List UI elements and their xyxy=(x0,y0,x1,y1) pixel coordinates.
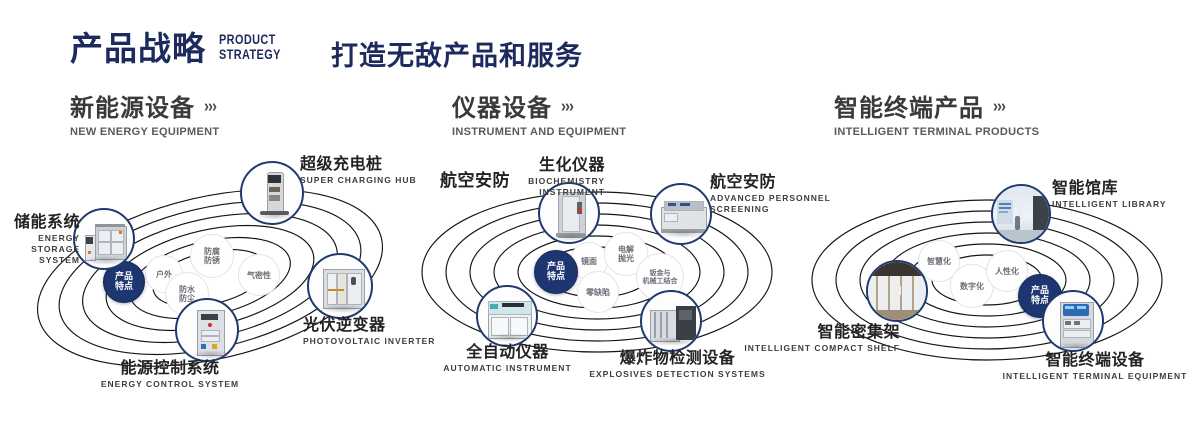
center-bubble-line1-1: 产品 xyxy=(115,272,133,282)
page-title-en: PRODUCT STRATEGY xyxy=(219,32,281,62)
product-node-intelligent-library[interactable] xyxy=(991,184,1051,244)
label-cn-energy-control: 能源控制系统 xyxy=(90,358,250,377)
center-bubble-line2-1: 特点 xyxy=(115,282,133,292)
label-automatic-instrument: 全自动仪器 AUTOMATIC INSTRUMENT xyxy=(425,342,590,374)
label-energy-storage: 储能系统 ENERGY STORAGE SYSTEM xyxy=(0,212,80,266)
section-title-cn-0: 新能源设备 xyxy=(70,94,195,122)
explosives-detector-icon xyxy=(642,292,700,350)
section-title-cn-1: 仪器设备 xyxy=(452,94,552,122)
label-cn-biochemistry: 生化仪器 xyxy=(435,155,605,174)
feature-line1-2-1: 镜面 xyxy=(581,257,597,266)
center-bubble-2: 产品 特点 xyxy=(534,250,578,294)
feature-line1-3-1: 智慧化 xyxy=(927,257,951,266)
feature-line1-2-2: 电解 xyxy=(618,245,634,254)
product-node-screening-machine[interactable] xyxy=(650,183,712,245)
page-slogan: 打造无敌产品和服务 xyxy=(331,34,583,73)
label-cn-terminal-equipment: 智能终端设备 xyxy=(1000,350,1190,369)
page-title-en-line1: PRODUCT xyxy=(219,32,281,47)
product-node-compact-shelf[interactable] xyxy=(866,260,928,322)
label-cn-library: 智能馆库 xyxy=(1052,178,1192,197)
automatic-instrument-icon xyxy=(478,287,536,345)
center-bubble-line1-2: 产品 xyxy=(547,262,565,272)
label-en-explosives: EXPLOSIVES DETECTION SYSTEMS xyxy=(585,369,770,380)
label-cn-compact-shelf: 智能密集架 xyxy=(740,322,900,341)
section-heading-instrument: 仪器设备››› INSTRUMENT AND EQUIPMENT xyxy=(452,94,626,138)
feature-line1-3-3: 人性化 xyxy=(995,267,1019,276)
page-title-en-line2: STRATEGY xyxy=(219,47,281,62)
section-title-en-0: NEW ENERGY EQUIPMENT xyxy=(70,126,219,138)
label-biochemistry-instrument: 生化仪器 BIOCHEMISTRY INSTRUMENT xyxy=(435,155,605,198)
feature-line1-1-4: 气密性 xyxy=(247,271,271,280)
energy-storage-cabinet-icon xyxy=(75,210,133,268)
section-heading-intelligent: 智能终端产品››› INTELLIGENT TERMINAL PRODUCTS xyxy=(834,94,1039,138)
section-title-en-2: INTELLIGENT TERMINAL PRODUCTS xyxy=(834,126,1039,138)
page-title-cn: 产品战略 xyxy=(70,29,206,69)
feature-bubble-1-4: 气密性 xyxy=(238,254,280,296)
chevrons-right-icon: ››› xyxy=(993,96,1005,116)
library-room-photo-icon xyxy=(993,186,1049,242)
section-title-en-1: INSTRUMENT AND EQUIPMENT xyxy=(452,126,626,138)
feature-line2-1-2: 防锈 xyxy=(204,256,220,265)
label-en-biochemistry: BIOCHEMISTRY INSTRUMENT xyxy=(435,176,605,198)
feature-line2-2-2: 抛光 xyxy=(618,254,634,263)
label-energy-control: 能源控制系统 ENERGY CONTROL SYSTEM xyxy=(90,358,250,390)
product-node-automatic-instrument[interactable] xyxy=(476,285,538,347)
feature-line1-1-2: 防腐 xyxy=(204,247,220,256)
header: 产品战略 PRODUCT STRATEGY 打造无敌产品和服务 xyxy=(0,0,1200,86)
screening-machine-icon xyxy=(652,185,710,243)
chevrons-right-icon: ››› xyxy=(561,96,573,116)
self-service-kiosk-icon xyxy=(1044,292,1102,350)
label-cn-energy-storage: 储能系统 xyxy=(0,212,80,231)
product-node-terminal-equipment[interactable] xyxy=(1042,290,1104,352)
feature-line2-2-4: 机械工结合 xyxy=(643,277,678,285)
compact-shelf-photo-icon xyxy=(868,262,926,320)
label-en-library: INTELLIGENT LIBRARY xyxy=(1052,199,1192,210)
section-heading-new-energy: 新能源设备››› NEW ENERGY EQUIPMENT xyxy=(70,94,219,138)
product-node-pv-inverter[interactable] xyxy=(307,253,373,319)
label-en-compact-shelf: INTELLIGENT COMPACT SHELF xyxy=(740,343,900,354)
label-en-energy-storage: ENERGY STORAGE SYSTEM xyxy=(0,233,80,266)
pv-inverter-cabinet-icon xyxy=(309,255,371,317)
cluster-new-energy: 防腐 防锈 户外 防水 防尘 气密性 产品 特点 xyxy=(10,150,410,400)
cluster-intelligent-terminal: 智慧化 数字化 人性化 产品 特点 智 xyxy=(790,150,1190,400)
label-en-automatic: AUTOMATIC INSTRUMENT xyxy=(425,363,590,374)
label-en-energy-control: ENERGY CONTROL SYSTEM xyxy=(90,379,250,390)
feature-line1-2-4: 钣金与 xyxy=(650,269,671,277)
label-compact-shelf: 智能密集架 INTELLIGENT COMPACT SHELF xyxy=(740,322,900,354)
control-cabinet-icon xyxy=(177,300,237,360)
feature-bubble-2-3: 零缺陷 xyxy=(577,271,619,313)
label-terminal-equipment: 智能终端设备 INTELLIGENT TERMINAL EQUIPMENT xyxy=(1000,350,1190,382)
label-cn-automatic: 全自动仪器 xyxy=(425,342,590,361)
cluster-instrument: 镜面 电解 抛光 零缺陷 钣金与 机械工结合 产品 特点 xyxy=(400,150,800,400)
feature-line1-2-3: 零缺陷 xyxy=(586,288,610,297)
charging-pile-icon xyxy=(242,163,302,223)
product-node-charging-pile[interactable] xyxy=(240,161,304,225)
product-node-energy-control[interactable] xyxy=(175,298,239,362)
product-strategy-infographic: 产品战略 PRODUCT STRATEGY 打造无敌产品和服务 新能源设备›››… xyxy=(0,0,1200,422)
product-node-energy-storage[interactable] xyxy=(73,208,135,270)
product-node-explosives-detector[interactable] xyxy=(640,290,702,352)
section-title-cn-2: 智能终端产品 xyxy=(834,94,984,122)
feature-line1-1-1: 户外 xyxy=(156,270,172,279)
feature-line1-1-3: 防水 xyxy=(179,285,195,294)
label-en-terminal-equipment: INTELLIGENT TERMINAL EQUIPMENT xyxy=(1000,371,1190,382)
feature-line1-3-2: 数字化 xyxy=(960,282,984,291)
label-intelligent-library: 智能馆库 INTELLIGENT LIBRARY xyxy=(1052,178,1192,210)
chevrons-right-icon: ››› xyxy=(204,96,216,116)
center-bubble-line2-2: 特点 xyxy=(547,272,565,282)
feature-bubble-1-2: 防腐 防锈 xyxy=(190,234,234,278)
